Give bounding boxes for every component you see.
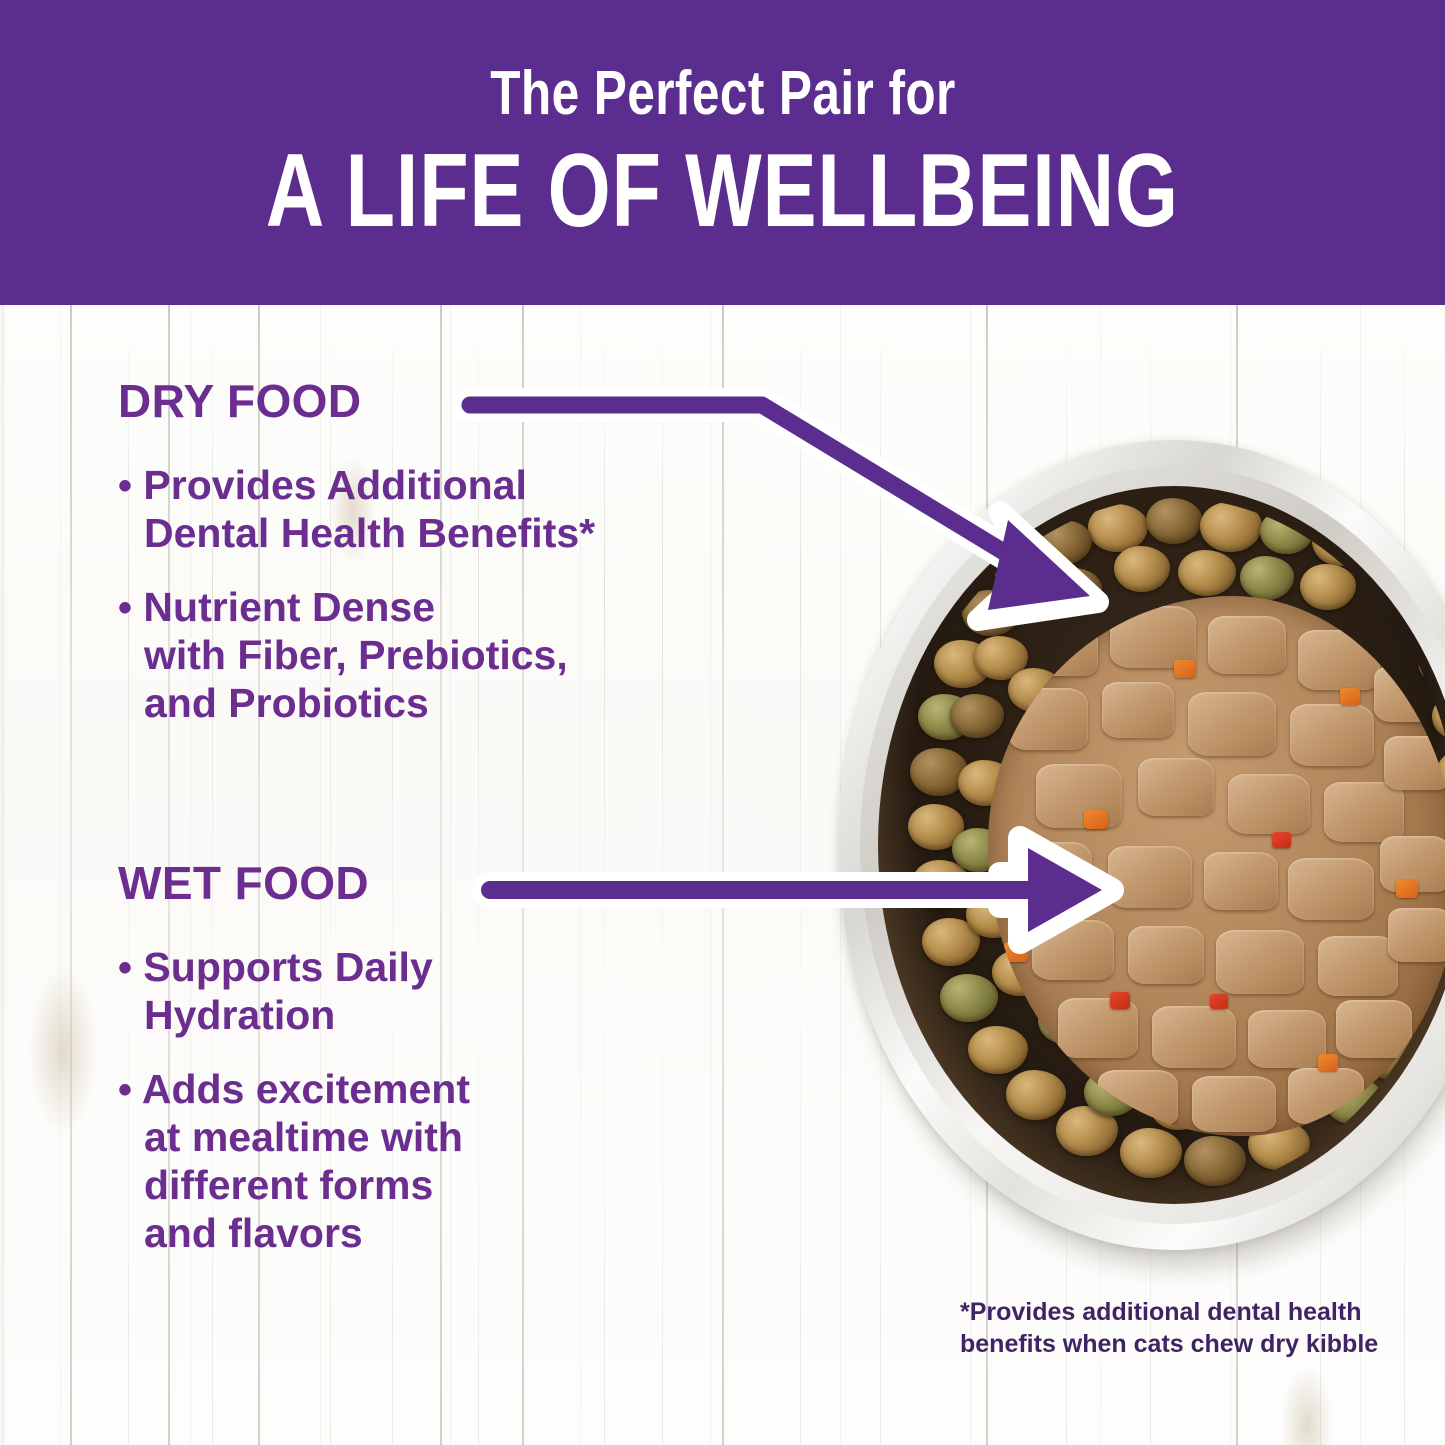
footnote-line-2: benefits when cats chew dry kibble — [960, 1328, 1380, 1360]
bullet-line: Hydration — [144, 992, 335, 1038]
bullet-marker: • — [118, 464, 132, 508]
bullet-line: Provides Additional — [143, 462, 526, 508]
bullet-line: and Probiotics — [144, 680, 429, 726]
bullet-line: Dental Health Benefits* — [144, 510, 595, 556]
pet-food-bowl-image — [838, 440, 1445, 1270]
footnote-line-1: *Provides additional dental health — [960, 1296, 1380, 1328]
list-item: • Nutrient Dense with Fiber, Prebiotics,… — [118, 584, 838, 728]
dry-food-heading: DRY FOOD — [118, 378, 838, 424]
header-line-2: A LIFE OF WELLBEING — [266, 139, 1179, 243]
bullet-marker: • — [118, 946, 132, 990]
dry-food-bullet-list: • Provides Additional Dental Health Bene… — [118, 462, 838, 728]
dry-food-section: DRY FOOD • Provides Additional Dental He… — [118, 378, 838, 754]
list-item: • Provides Additional Dental Health Bene… — [118, 462, 838, 558]
header-line-1: The Perfect Pair for — [490, 63, 956, 125]
wet-food-section: WET FOOD • Supports Daily Hydration • Ad… — [118, 860, 838, 1284]
list-item: • Supports Daily Hydration — [118, 944, 838, 1040]
bullet-line: Supports Daily — [143, 944, 432, 990]
bullet-marker: • — [118, 1068, 132, 1112]
footnote: *Provides additional dental health benef… — [960, 1296, 1380, 1360]
header-banner: The Perfect Pair for A LIFE OF WELLBEING — [0, 0, 1445, 305]
list-item: • Adds excitement at mealtime with diffe… — [118, 1066, 838, 1258]
wet-food-heading: WET FOOD — [118, 860, 838, 906]
bullet-marker: • — [118, 586, 132, 630]
infographic-canvas: The Perfect Pair for A LIFE OF WELLBEING… — [0, 0, 1445, 1445]
bullet-line: at mealtime with — [144, 1114, 463, 1160]
bullet-line: with Fiber, Prebiotics, — [144, 632, 568, 678]
bullet-line: Adds excitement — [142, 1066, 470, 1112]
bullet-line: different forms — [144, 1162, 433, 1208]
bullet-line: and flavors — [144, 1210, 363, 1256]
bullet-line: Nutrient Dense — [143, 584, 435, 630]
wet-food-bullet-list: • Supports Daily Hydration • Adds excite… — [118, 944, 838, 1258]
